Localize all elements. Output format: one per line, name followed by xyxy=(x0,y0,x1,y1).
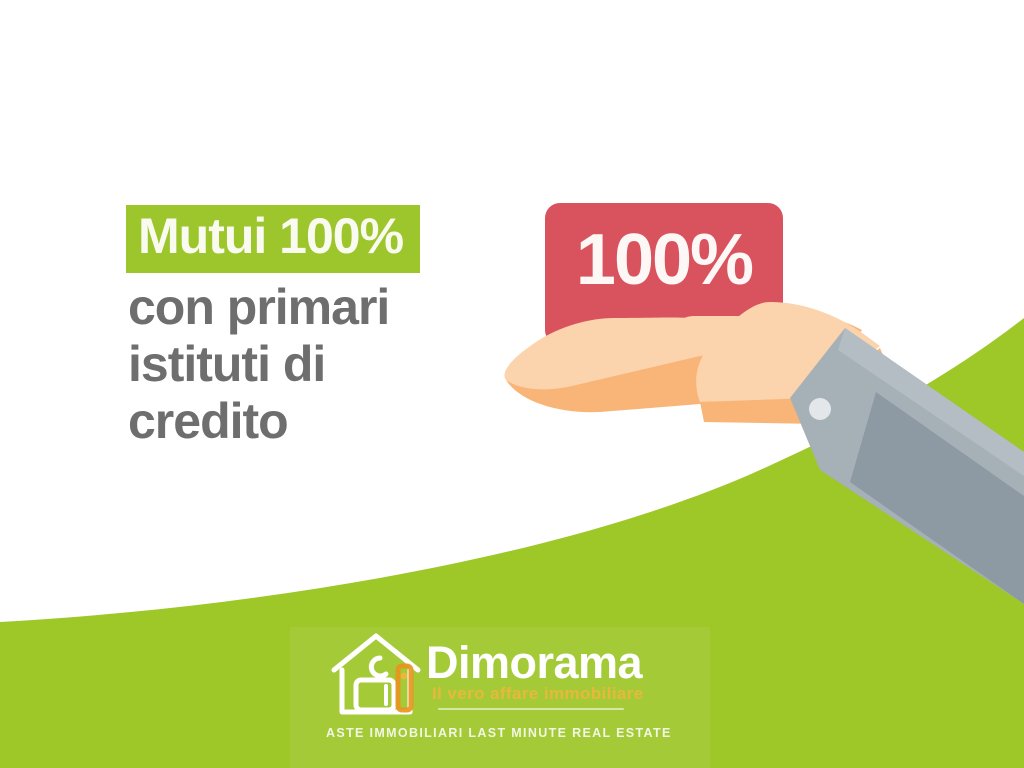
logo-strip-text: ASTE IMMOBILIARI LAST MINUTE REAL ESTATE xyxy=(326,726,672,741)
headline-line-2: istituti di xyxy=(128,336,420,393)
logo-lockup[interactable]: Dimorama Il vero affare immobiliare ASTE… xyxy=(328,630,668,760)
logo-wordmark: Dimorama xyxy=(426,640,642,686)
headline-highlight-text: Mutui 100% xyxy=(138,208,408,264)
headline-line-3: credito xyxy=(128,393,420,450)
house-outline-icon xyxy=(328,630,424,722)
logo-divider xyxy=(438,708,624,710)
headline-body: con primari istituti di credito xyxy=(124,279,420,450)
headline-line-1: con primari xyxy=(128,279,420,336)
headline-block: Mutui 100% con primari istituti di credi… xyxy=(124,205,420,450)
percent-card: 100% xyxy=(545,203,783,345)
headline-highlight: Mutui 100% xyxy=(126,205,420,273)
promo-banner: Mutui 100% con primari istituti di credi… xyxy=(0,0,1024,768)
percent-card-value: 100% xyxy=(545,221,783,299)
logo-tagline: Il vero affare immobiliare xyxy=(432,684,644,703)
